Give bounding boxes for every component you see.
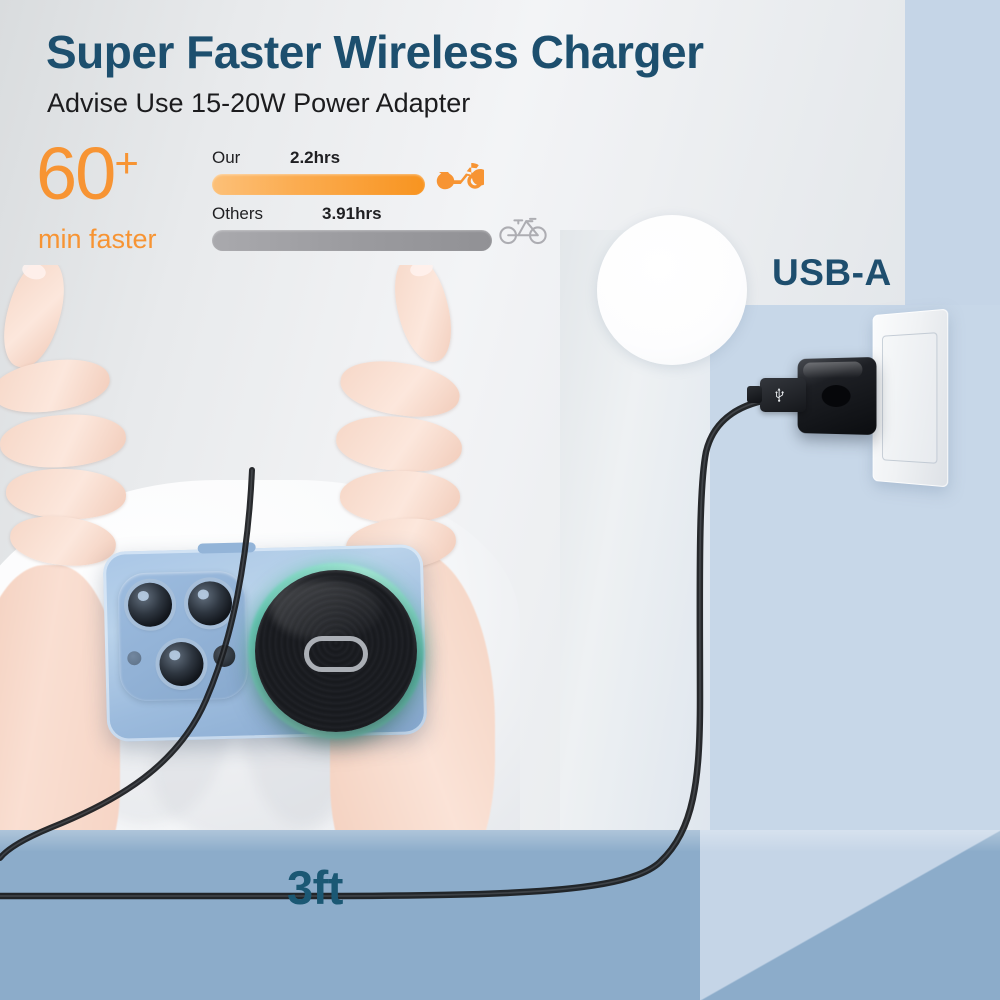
adapter-usb-port: [822, 385, 851, 407]
bicycle-icon: [498, 210, 548, 248]
camera-flash-icon: [213, 645, 236, 668]
camera-island: [117, 570, 248, 701]
lidar-sensor-icon: [127, 651, 141, 665]
usb-a-callout-circle: [597, 215, 747, 365]
puck-logo-icon: [304, 636, 368, 672]
stat-number: 60: [36, 132, 114, 215]
page-subtitle: Advise Use 15-20W Power Adapter: [47, 88, 470, 119]
wall-socket-inner: [882, 332, 937, 464]
chart-bar-others: [212, 230, 492, 251]
lifestyle-photo: [0, 265, 620, 830]
wall-socket: [873, 309, 949, 488]
usb-plug-trident-icon: [770, 386, 788, 404]
chart-bar-our: [212, 174, 425, 195]
power-adapter: [798, 357, 877, 435]
usb-plug-tip: [747, 386, 762, 403]
charging-speed-chart: Our 2.2hrs Others 3.91hrs: [210, 148, 550, 256]
chart-row-label-our: Our: [212, 148, 240, 168]
cable-length-label: 3ft: [287, 860, 343, 915]
page-title: Super Faster Wireless Charger: [46, 25, 703, 79]
camera-lens: [159, 642, 204, 687]
desk-edge-highlight: [0, 830, 1000, 852]
puck-highlight: [271, 580, 381, 640]
camera-lens: [128, 582, 173, 627]
camera-lens: [187, 581, 232, 626]
chart-row-value-our: 2.2hrs: [290, 148, 340, 168]
usb-a-label: USB-A: [772, 252, 892, 294]
usb-cable-plug: [760, 378, 806, 412]
product-marketing-image: Super Faster Wireless Charger Advise Use…: [0, 0, 1000, 1000]
chart-row-label-others: Others: [212, 204, 263, 224]
stat-number-block: 60+: [36, 140, 137, 208]
stat-caption: min faster: [38, 224, 157, 255]
desk-corner-wedge: [700, 830, 1000, 1000]
chart-row-value-others: 3.91hrs: [322, 204, 382, 224]
phone-speaker: [198, 542, 256, 553]
stat-plus-sign: +: [114, 139, 137, 186]
adapter-highlight: [803, 361, 862, 378]
motorcycle-icon: [436, 154, 484, 196]
left-arm: [0, 565, 120, 830]
wireless-charger-puck: [255, 570, 417, 732]
